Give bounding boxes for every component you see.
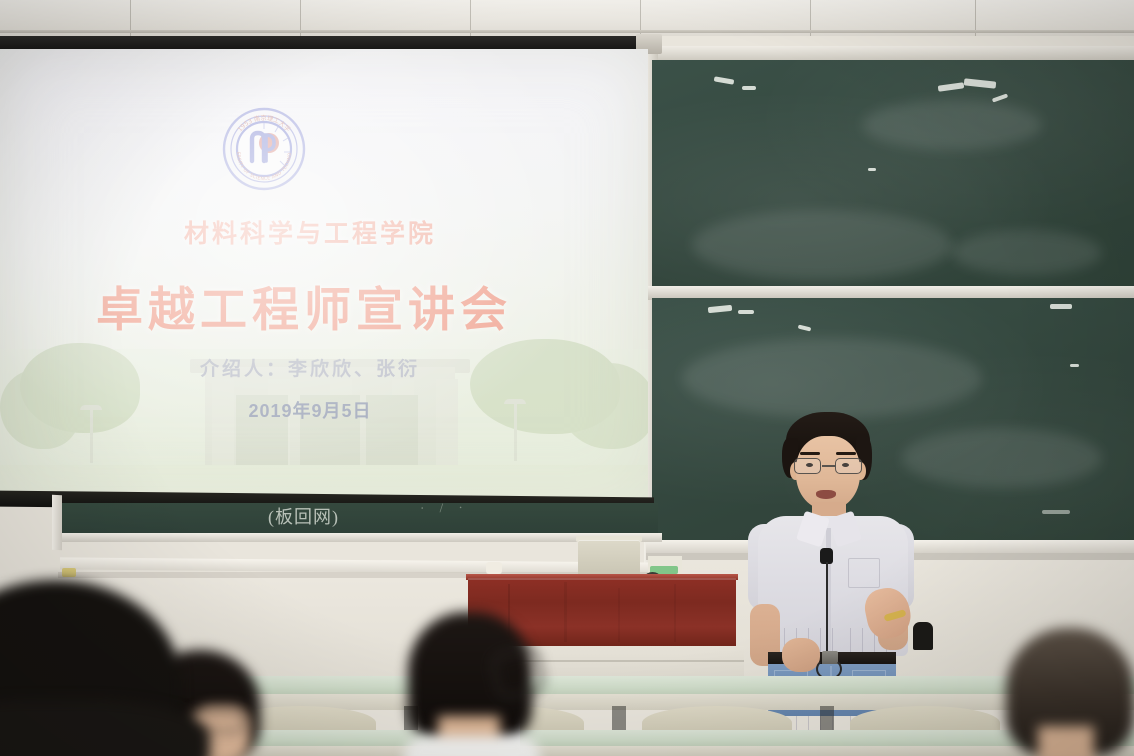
njust-logo-icon: 1953 南京理工大学 UNIVERSITY OF SCIENCE AND TE… [222,107,306,191]
slide-title: 卓越工程师宣讲会 [0,271,608,340]
chalk-writing-faint: · / · [420,500,469,517]
svg-text:UNIVERSITY OF SCIENCE AND TECH: UNIVERSITY OF SCIENCE AND TECHNOLOGY [222,107,293,182]
podium-cup [486,562,502,574]
glasses-icon [794,458,864,475]
blackboard-strip-side-frame [52,495,62,551]
speaker-hand-left [782,638,820,672]
chalk-ledge-end-cap [62,568,76,577]
chalk-writing-main: (板回网) [268,503,339,529]
blackboard-strip-left [62,503,658,535]
podium-monitor [578,540,640,578]
slide-presenters: 介绍人：李欣欣、张衍 [0,354,620,381]
speaker-shirt-pocket [848,558,880,588]
projector-screen-roller [0,36,658,50]
speaker-mouth [816,490,836,499]
microphone-cord [826,562,828,658]
projection-screen[interactable]: 1953 南京理工大学 UNIVERSITY OF SCIENCE AND TE… [0,49,648,501]
blackboard-strip-frame [58,533,662,542]
audience-member-center-shirt [404,736,540,756]
audience-member-right-neck [1038,726,1094,756]
speaker-brow-left [800,452,820,455]
slide-date: 2019年9月5日 [0,397,620,423]
slide-organization: 材料科学与工程学院 [0,214,620,250]
svg-text:1953 南京理工大学: 1953 南京理工大学 [237,114,293,133]
speaker-brow-right [836,452,856,455]
speaker [738,412,928,712]
blackboard-upper-panel [652,60,1134,292]
ceiling [0,0,1134,40]
slide-background-photo [0,349,648,501]
lecture-hall-photo: 1953 南京理工大学 UNIVERSITY OF SCIENCE AND TE… [0,0,1134,756]
